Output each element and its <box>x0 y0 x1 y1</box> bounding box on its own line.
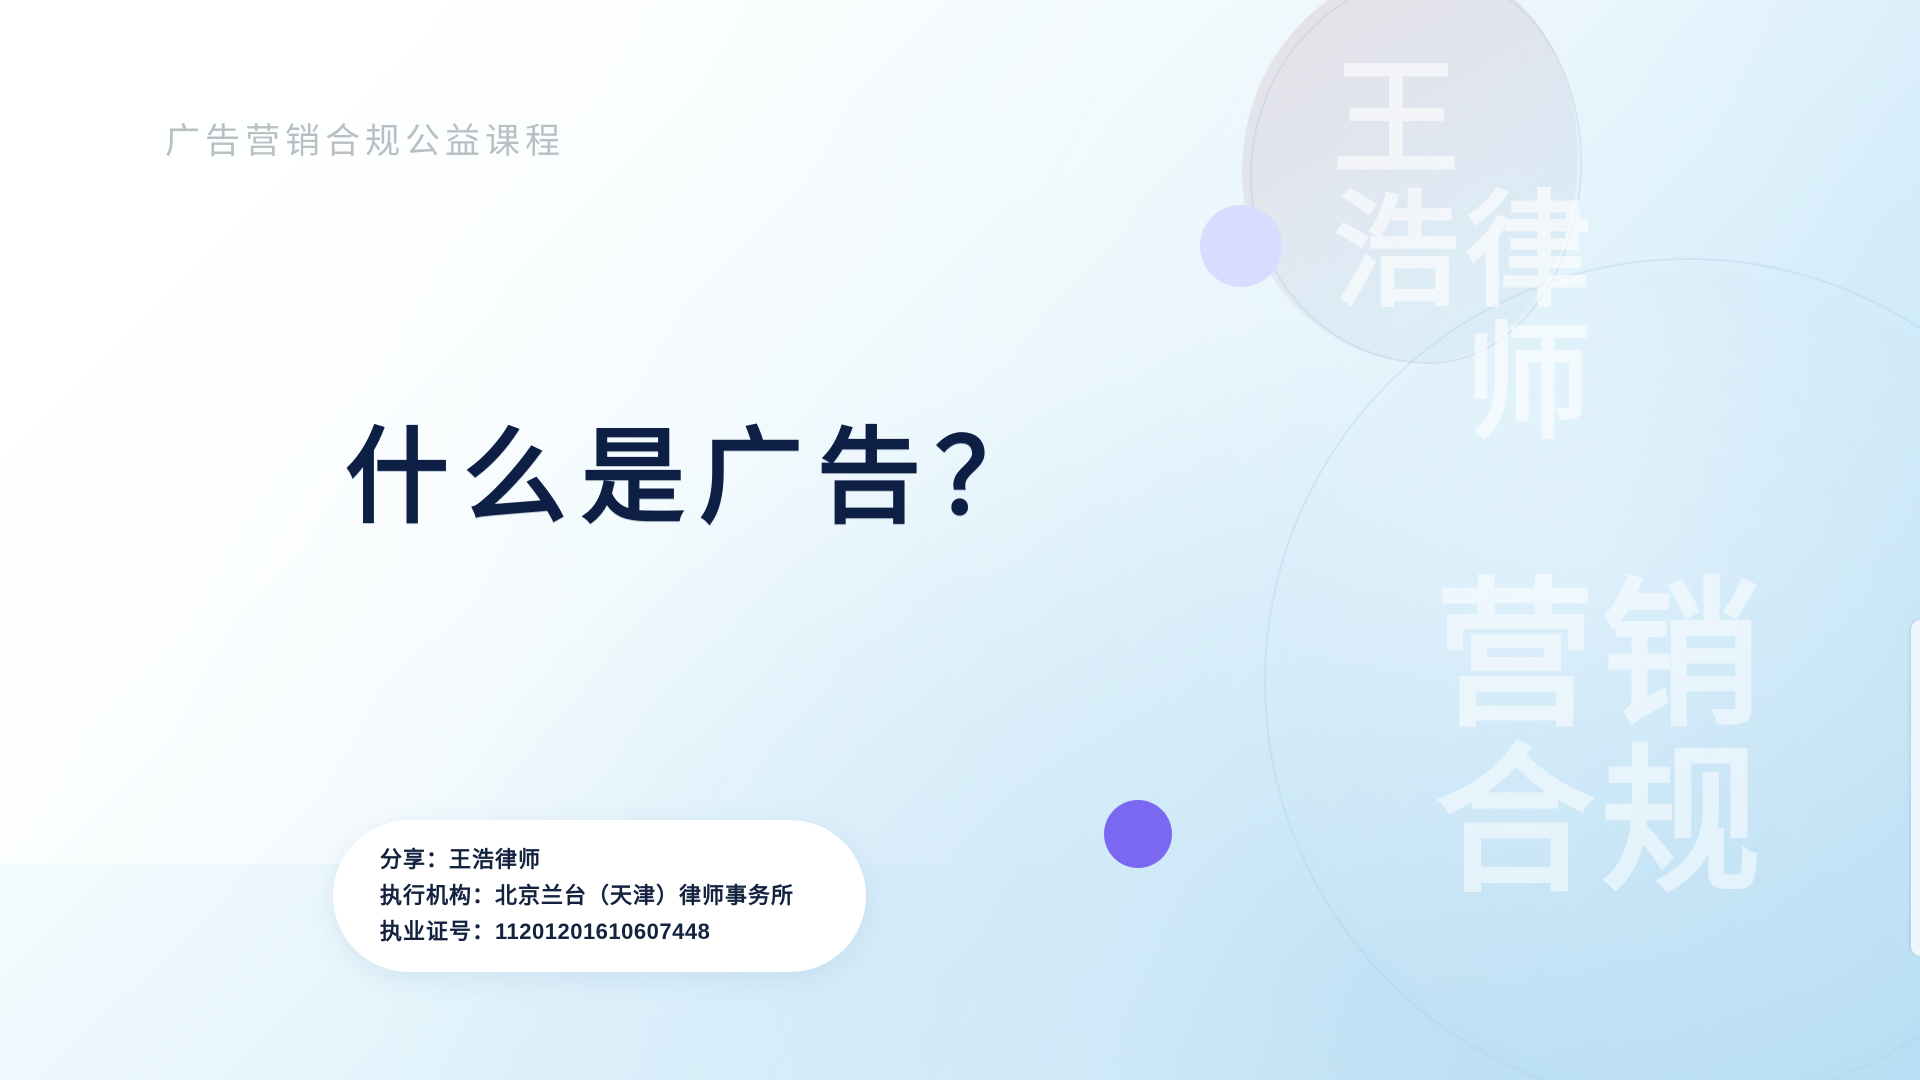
right-edge-panel <box>1911 620 1920 956</box>
watermark-char-shi: 师 <box>1462 320 1594 452</box>
watermark-topic: 营 销 合 规 <box>1432 574 1764 906</box>
page-title: 什么是广告？ <box>345 392 1053 543</box>
slide-canvas: 王 浩 律 师 营 销 合 规 广告营销合规公益课程 什么是广告？ 分享：王浩律… <box>0 0 1920 1080</box>
presenter-row: 分享：王浩律师 <box>380 849 866 871</box>
organization-name: 北京兰台（天津）律师事务所 <box>495 883 794 908</box>
watermark-char-hao: 浩 <box>1330 188 1462 320</box>
decor-dot-purple <box>1104 800 1172 868</box>
license-number: 11201201610607448 <box>495 919 710 944</box>
organization-row: 执行机构：北京兰台（天津）律师事务所 <box>380 885 866 907</box>
presenter-info-card: 分享：王浩律师 执行机构：北京兰台（天津）律师事务所 执业证号：11201201… <box>333 820 866 972</box>
watermark-circle-large-ring <box>1264 258 1920 1080</box>
watermark-circle-large <box>1276 270 1920 1080</box>
watermark-char-lv: 律 <box>1462 188 1594 320</box>
watermark-lawyer-name: 王 浩 律 师 <box>1330 56 1594 320</box>
presenter-label: 分享： <box>380 847 449 872</box>
watermark-blob-outline <box>1250 0 1582 364</box>
watermark-char-xiao: 销 <box>1598 574 1764 740</box>
watermark-char-wang: 王 <box>1330 56 1462 188</box>
watermark-char-he: 合 <box>1432 740 1598 906</box>
decor-dot-light <box>1200 205 1282 287</box>
license-label: 执业证号： <box>380 919 495 944</box>
license-row: 执业证号：11201201610607448 <box>380 921 866 943</box>
presenter-name: 王浩律师 <box>449 847 541 872</box>
organization-label: 执行机构： <box>380 883 495 908</box>
watermark-char-ying: 营 <box>1432 574 1598 740</box>
course-label: 广告营销合规公益课程 <box>165 113 565 164</box>
watermark-blob-top-right <box>1242 0 1578 362</box>
watermark-char-gui: 规 <box>1598 740 1764 906</box>
